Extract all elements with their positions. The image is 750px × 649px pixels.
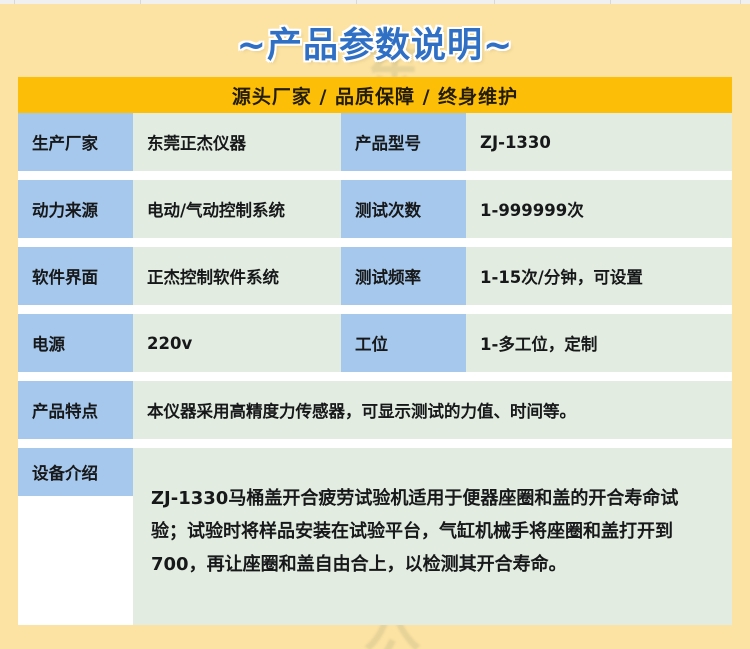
page-title: ~产品参数说明~ — [0, 17, 750, 68]
row-label-right: 产品型号 — [341, 113, 466, 171]
row-value-right: 1-999999次 — [466, 180, 732, 238]
row-label-right: 测试次数 — [341, 180, 466, 238]
row-divider — [18, 238, 732, 247]
product-spec-page: 东莞正杰仪器科技有限公司 ~产品参数说明~ 源头厂家 / 品质保障 / 终身维护… — [0, 0, 750, 649]
top-edge-strip — [0, 0, 750, 4]
row-label-right: 测试频率 — [341, 247, 466, 305]
row-label-left: 动力来源 — [18, 180, 133, 238]
row-value-right: 1-多工位，定制 — [466, 314, 732, 372]
row-value-left: 正杰控制软件系统 — [133, 247, 341, 305]
row-label-left: 电源 — [18, 314, 133, 372]
row-label-left: 软件界面 — [18, 247, 133, 305]
row-value-left: 电动/气动控制系统 — [133, 180, 341, 238]
table-row-feature: 产品特点 本仪器采用高精度力传感器，可显示测试的力值、时间等。 — [18, 381, 732, 439]
table-row: 软件界面 正杰控制软件系统 测试频率 1-15次/分钟，可设置 — [18, 247, 732, 305]
row-value-right: 1-15次/分钟，可设置 — [466, 247, 732, 305]
table-row: 电源 220v 工位 1-多工位，定制 — [18, 314, 732, 372]
table-row-intro: 设备介绍 ZJ-1330马桶盖开合疲劳试验机适用于便器座圈和盖的开合寿命试验；试… — [18, 448, 732, 625]
feature-label: 产品特点 — [18, 381, 133, 439]
intro-label-filler — [18, 496, 133, 625]
intro-description: ZJ-1330马桶盖开合疲劳试验机适用于便器座圈和盖的开合寿命试验；试验时将样品… — [133, 448, 732, 625]
row-divider — [18, 439, 732, 448]
row-value-left: 220v — [133, 314, 341, 372]
row-divider — [18, 305, 732, 314]
feature-value: 本仪器采用高精度力传感器，可显示测试的力值、时间等。 — [133, 381, 732, 439]
row-divider — [18, 372, 732, 381]
table-row: 生产厂家 东莞正杰仪器 产品型号 ZJ-1330 — [18, 113, 732, 171]
row-label-left: 生产厂家 — [18, 113, 133, 171]
intro-label: 设备介绍 — [18, 448, 133, 496]
row-value-right: ZJ-1330 — [466, 113, 732, 171]
row-label-right: 工位 — [341, 314, 466, 372]
promo-banner: 源头厂家 / 品质保障 / 终身维护 — [18, 77, 732, 113]
table-row: 动力来源 电动/气动控制系统 测试次数 1-999999次 — [18, 180, 732, 238]
row-value-left: 东莞正杰仪器 — [133, 113, 341, 171]
row-divider — [18, 171, 732, 180]
spec-table: 源头厂家 / 品质保障 / 终身维护 生产厂家 东莞正杰仪器 产品型号 ZJ-1… — [18, 77, 732, 625]
